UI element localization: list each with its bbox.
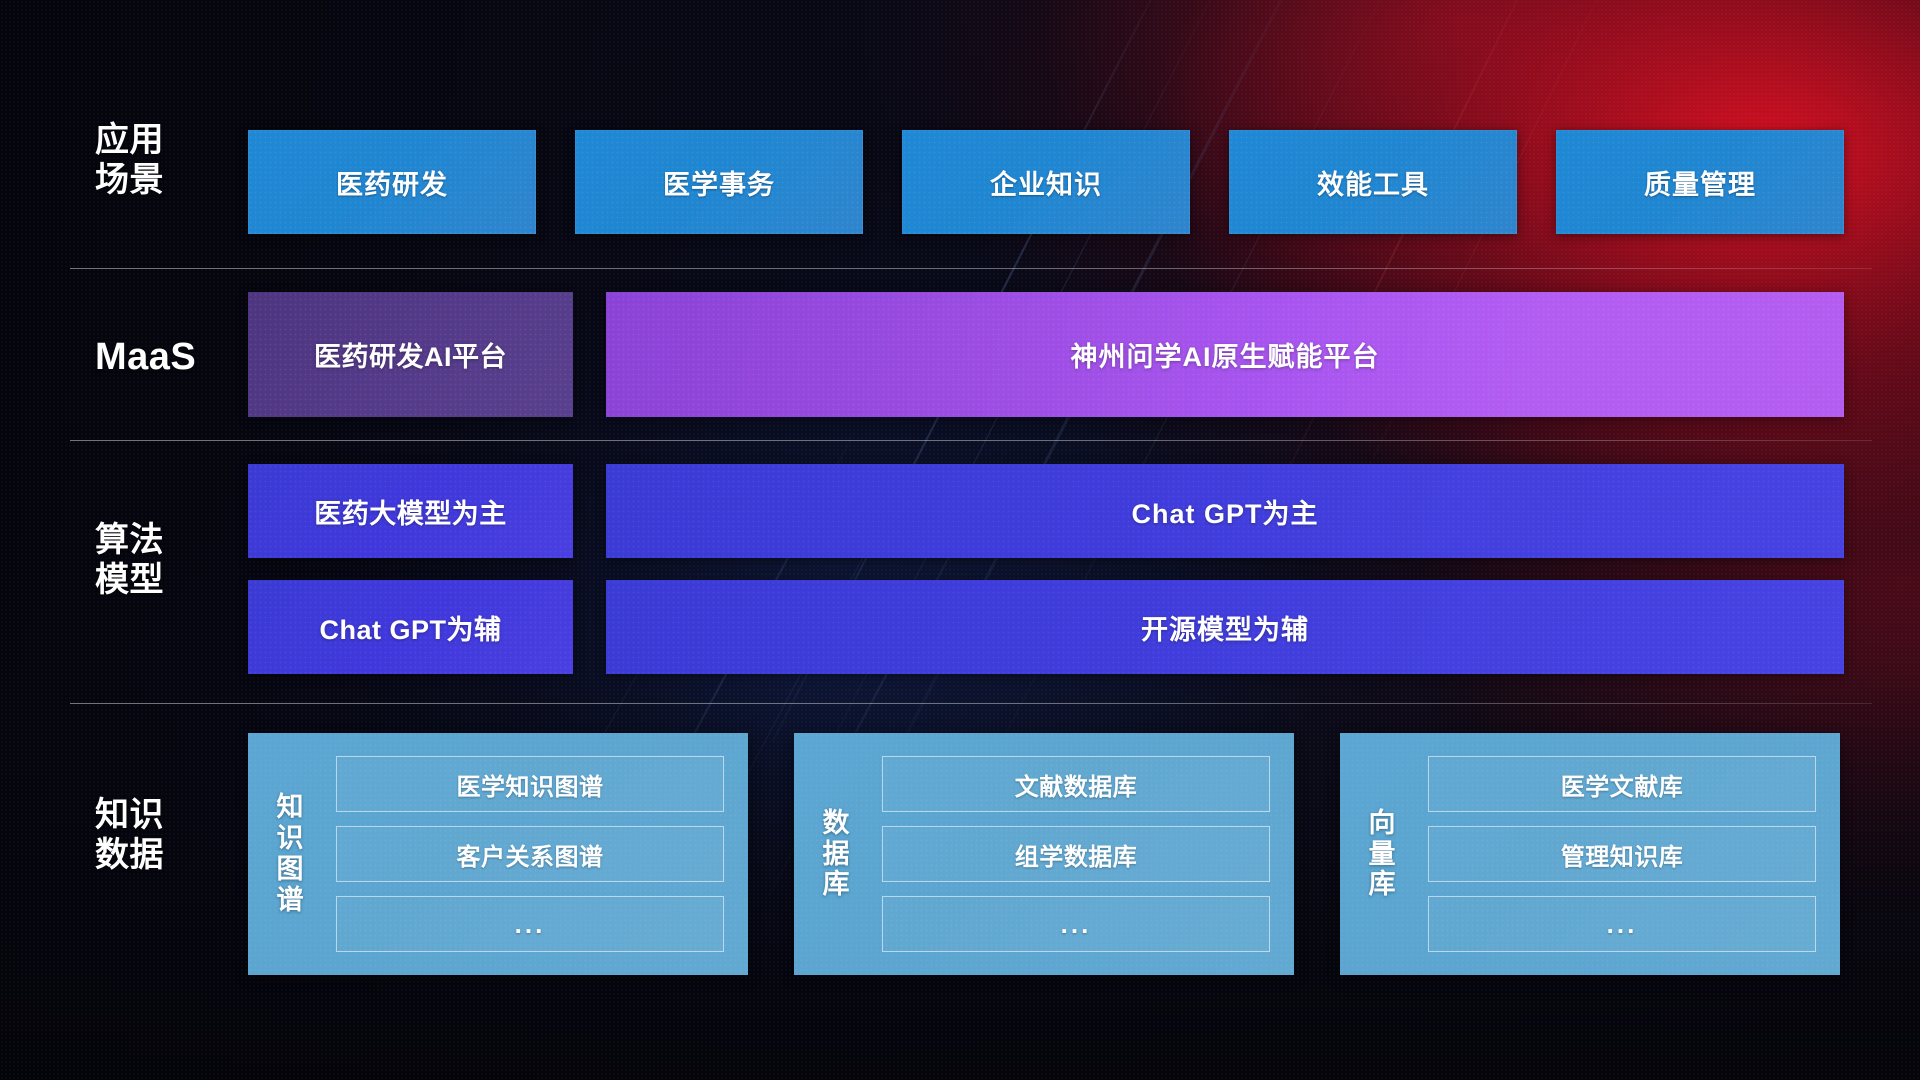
algorithm-row-primary: 医药大模型为主 Chat GPT为主 (248, 464, 1844, 558)
knowledge-item-more[interactable]: ... (1428, 896, 1816, 952)
algorithm-card-pharma-llm-primary[interactable]: 医药大模型为主 (248, 464, 573, 558)
row-label-scenarios-line2: 场景 (95, 160, 225, 200)
knowledge-item-label: 管理知识库 (1561, 837, 1684, 872)
maas-card-pharma-ai-platform[interactable]: 医药研发AI平台 (248, 292, 573, 417)
knowledge-item-customer-relation-graph[interactable]: 客户关系图谱 (336, 826, 724, 882)
row-label-algorithms-line1: 算法 (95, 520, 225, 560)
knowledge-item-label: 医学知识图谱 (457, 767, 604, 802)
algorithm-row-secondary: Chat GPT为辅 开源模型为辅 (248, 580, 1844, 674)
maas-platform-row: 医药研发AI平台 神州问学AI原生赋能平台 (248, 292, 1844, 417)
scenario-card-list: 医药研发 医学事务 企业知识 效能工具 质量管理 (248, 130, 1844, 234)
knowledge-item-list: 医学知识图谱 客户关系图谱 ... (332, 733, 748, 975)
knowledge-group-label-char: 库 (823, 869, 850, 900)
algorithm-model-rows: 医药大模型为主 Chat GPT为主 Chat GPT为辅 开源模型为辅 (248, 464, 1844, 696)
row-label-maas-text: MaaS (95, 335, 225, 380)
knowledge-group-label-char: 量 (1369, 839, 1396, 870)
scenario-card-medical-rnd[interactable]: 医药研发 (248, 130, 536, 234)
knowledge-item-label: 文献数据库 (1015, 767, 1138, 802)
knowledge-item-label: ... (1061, 909, 1092, 940)
scenario-card-label: 质量管理 (1644, 163, 1756, 202)
scenario-card-efficiency-tools[interactable]: 效能工具 (1229, 130, 1517, 234)
knowledge-group-label-char: 库 (1369, 869, 1396, 900)
maas-card-label: 神州问学AI原生赋能平台 (1071, 335, 1380, 374)
knowledge-group-label-char: 向 (1369, 808, 1396, 839)
knowledge-item-more[interactable]: ... (882, 896, 1270, 952)
knowledge-group-label-char: 数 (823, 808, 850, 839)
scenario-card-quality-management[interactable]: 质量管理 (1556, 130, 1844, 234)
knowledge-group-label-char: 图 (277, 854, 304, 885)
knowledge-item-list: 医学文献库 管理知识库 ... (1424, 733, 1840, 975)
maas-card-label: 医药研发AI平台 (314, 335, 507, 374)
knowledge-group-label-char: 识 (277, 823, 304, 854)
knowledge-item-label: ... (1607, 909, 1638, 940)
knowledge-item-medical-literature-store[interactable]: 医学文献库 (1428, 756, 1816, 812)
scenario-card-enterprise-knowledge[interactable]: 企业知识 (902, 130, 1190, 234)
knowledge-group-label: 数 据 库 (794, 733, 878, 975)
knowledge-item-label: ... (515, 909, 546, 940)
knowledge-item-management-knowledge-store[interactable]: 管理知识库 (1428, 826, 1816, 882)
knowledge-item-label: 医学文献库 (1561, 767, 1684, 802)
knowledge-item-list: 文献数据库 组学数据库 ... (878, 733, 1294, 975)
scenario-card-label: 效能工具 (1317, 163, 1429, 202)
algorithm-card-label: 医药大模型为主 (314, 492, 507, 531)
algorithm-card-opensource-secondary[interactable]: 开源模型为辅 (606, 580, 1844, 674)
row-label-maas: MaaS (95, 335, 225, 380)
knowledge-group-database: 数 据 库 文献数据库 组学数据库 ... (794, 733, 1294, 975)
row-label-knowledge-line2: 数据 (95, 835, 225, 875)
knowledge-item-literature-database[interactable]: 文献数据库 (882, 756, 1270, 812)
knowledge-item-more[interactable]: ... (336, 896, 724, 952)
knowledge-group-label: 向 量 库 (1340, 733, 1424, 975)
row-label-knowledge-line1: 知识 (95, 795, 225, 835)
maas-card-shenzhou-wenxue-platform[interactable]: 神州问学AI原生赋能平台 (606, 292, 1844, 417)
scenario-card-label: 医学事务 (663, 163, 775, 202)
row-label-algorithms: 算法 模型 (95, 520, 225, 600)
knowledge-item-medical-knowledge-graph[interactable]: 医学知识图谱 (336, 756, 724, 812)
knowledge-group-label-char: 知 (277, 792, 304, 823)
knowledge-group-label-char: 谱 (277, 885, 304, 916)
row-label-knowledge: 知识 数据 (95, 795, 225, 875)
knowledge-group-knowledge-graph: 知 识 图 谱 医学知识图谱 客户关系图谱 ... (248, 733, 748, 975)
scenario-card-label: 企业知识 (990, 163, 1102, 202)
knowledge-group-label: 知 识 图 谱 (248, 733, 332, 975)
algorithm-card-chatgpt-secondary[interactable]: Chat GPT为辅 (248, 580, 573, 674)
algorithm-card-chatgpt-primary[interactable]: Chat GPT为主 (606, 464, 1844, 558)
knowledge-group-vector-store: 向 量 库 医学文献库 管理知识库 ... (1340, 733, 1840, 975)
knowledge-data-groups: 知 识 图 谱 医学知识图谱 客户关系图谱 ... (248, 733, 1840, 975)
knowledge-item-label: 组学数据库 (1015, 837, 1138, 872)
scenario-card-medical-affairs[interactable]: 医学事务 (575, 130, 863, 234)
knowledge-group-label-char: 据 (823, 839, 850, 870)
divider-maas-algorithms (70, 440, 1872, 441)
scenario-card-label: 医药研发 (336, 163, 448, 202)
algorithm-card-label: Chat GPT为主 (1131, 492, 1318, 531)
algorithm-card-label: Chat GPT为辅 (319, 608, 501, 647)
knowledge-item-omics-database[interactable]: 组学数据库 (882, 826, 1270, 882)
slide-canvas: 应用 场景 医药研发 医学事务 企业知识 效能工具 质量管理 MaaS (0, 0, 1920, 1080)
algorithm-card-label: 开源模型为辅 (1141, 608, 1309, 647)
row-label-algorithms-line2: 模型 (95, 560, 225, 600)
row-label-scenarios: 应用 场景 (95, 120, 225, 200)
divider-algorithms-knowledge (70, 703, 1872, 704)
knowledge-item-label: 客户关系图谱 (457, 837, 604, 872)
divider-scenarios-maas (70, 268, 1872, 269)
row-label-scenarios-line1: 应用 (95, 120, 225, 160)
